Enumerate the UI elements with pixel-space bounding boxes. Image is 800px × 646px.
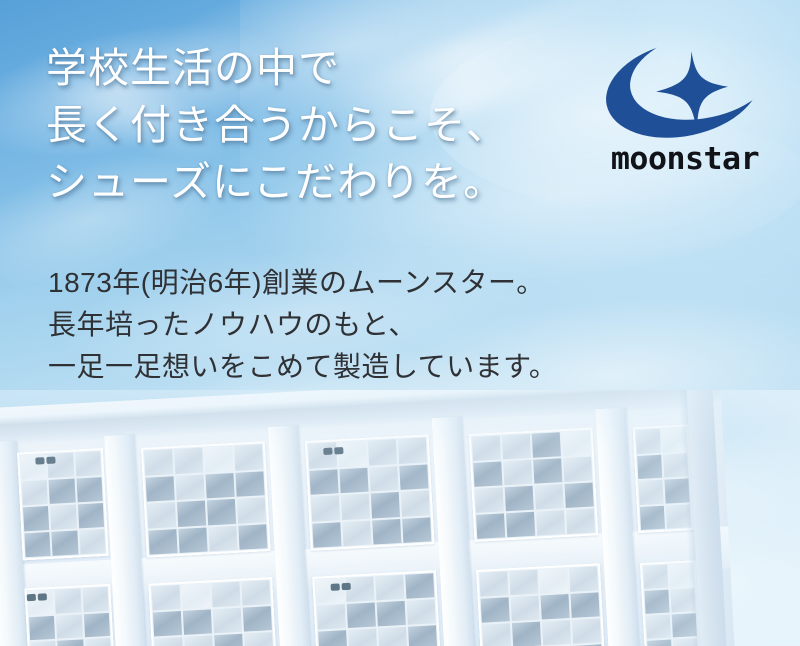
body-copy-line-2: 長年培ったノウハウのもと、 [48,304,648,346]
window [24,584,116,646]
crescent-moon-and-star-icon [590,45,780,145]
window [476,563,606,646]
hero-banner: 学校生活の中で 長く付き合うからこそ、 シューズにこだわりを。 1873年(明治… [0,0,800,646]
wall-vent [27,594,36,601]
window [148,577,278,646]
building-facade-group [0,390,734,646]
wall-vent [331,583,340,590]
window [17,448,109,560]
headline-line-3: シューズにこだわりを。 [46,154,566,211]
headline-line-2: 長く付き合うからこそ、 [46,97,566,154]
window [312,570,442,646]
moonstar-logo: moonstar [590,45,780,180]
body-copy-line-1: 1873年(明治6年)創業のムーンスター。 [48,262,648,304]
wall-vent [35,457,44,464]
body-copy: 1873年(明治6年)創業のムーンスター。 長年培ったノウハウのもと、 一足一足… [48,262,648,388]
window [469,427,599,542]
moonstar-wordmark: moonstar [588,141,782,177]
headline-line-1: 学校生活の中で [46,40,566,97]
headline: 学校生活の中で 長く付き合うからこそ、 シューズにこだわりを。 [46,40,566,211]
wall-vent [323,448,332,455]
body-copy-line-3: 一足一足想いをこめて製造しています。 [48,346,648,388]
window [141,441,271,558]
school-building-photo [0,390,800,646]
